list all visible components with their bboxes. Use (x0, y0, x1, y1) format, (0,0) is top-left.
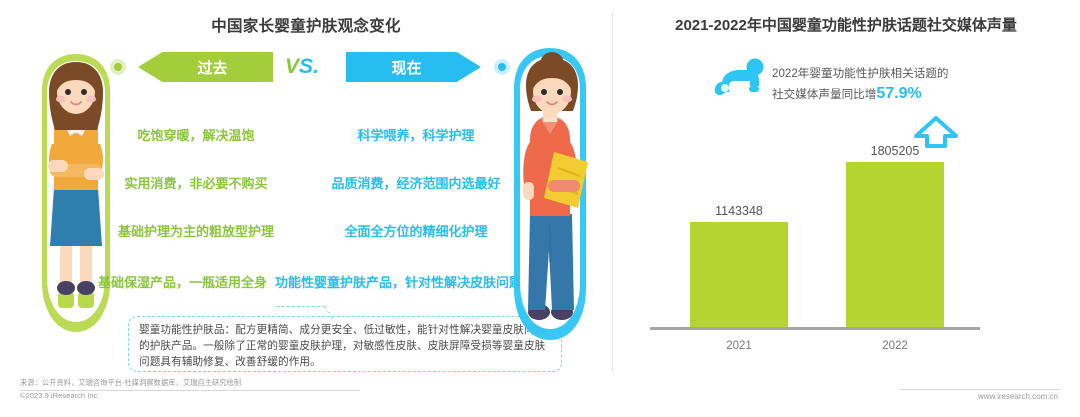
baby-crawling-icon (712, 58, 770, 100)
bar-2021 (690, 222, 788, 327)
annotation-prefix: 社交媒体声量同比增 (772, 88, 876, 101)
comparison-row: 吃饱穿暖，解决温饱 科学喂养，科学护理 (86, 110, 526, 158)
left-panel: 中国家长婴童护肤观念变化 (0, 0, 612, 417)
banner-now: 现在 (346, 52, 481, 82)
comparison-row-wide: 基础保湿产品，一瓶适用全身 功能性婴童护肤产品，针对性解决皮肤问题 (80, 272, 540, 291)
comparison-now-text: 品质消费，经济范围内选最好 (306, 173, 526, 192)
comparison-past-text: 基础护理为主的粗放型护理 (86, 221, 306, 240)
bullet-dot-past-icon (110, 59, 126, 75)
comparison-row: 基础护理为主的粗放型护理 全面全方位的精细化护理 (86, 206, 526, 254)
website-link[interactable]: www.iresearch.com.cn (978, 392, 1058, 401)
infographic-page: 中国家长婴童护肤观念变化 (0, 0, 1080, 417)
comparison-banner: 过去 VS. 现在 (110, 52, 510, 82)
vs-v: V (285, 55, 299, 79)
comparison-past-text-wide: 基础保湿产品，一瓶适用全身 (98, 272, 267, 291)
comparison-list: 吃饱穿暖，解决温饱 科学喂养，科学护理 实用消费，非必要不购买 品质消费，经济范… (86, 110, 526, 254)
comparison-now-text: 科学喂养，科学护理 (306, 125, 526, 144)
right-panel-title: 2021-2022年中国婴童功能性护肤话题社交媒体声量 (612, 14, 1080, 35)
comparison-past-text: 吃饱穿暖，解决温饱 (86, 125, 306, 144)
left-panel-title: 中国家长婴童护肤观念变化 (0, 14, 612, 36)
banner-past: 过去 (138, 52, 273, 82)
annotation-line-2: 社交媒体声量同比增57.9% (772, 84, 1072, 105)
source-note: 来源：公开资料，艾瑞咨询平台-社媒洞察数据库，艾瑞自主研究绘制 (20, 378, 360, 391)
vs-s: S. (299, 55, 319, 79)
footer-rule (900, 389, 1060, 390)
x-axis (650, 327, 980, 330)
bar-value-2022: 1805205 (835, 144, 955, 158)
comparison-row: 实用消费，非必要不购买 品质消费，经济范围内选最好 (86, 158, 526, 206)
x-label-2022: 2022 (835, 340, 955, 352)
comparison-now-text: 全面全方位的精细化护理 (306, 221, 526, 240)
copyright-note: ©2023.9 iResearch Inc. (20, 391, 99, 400)
right-panel: 2021-2022年中国婴童功能性护肤话题社交媒体声量 2022年婴童功能性护肤… (612, 0, 1080, 417)
comparison-now-text-wide: 功能性婴童护肤产品，针对性解决皮肤问题 (275, 272, 522, 291)
annotation-line-1: 2022年婴童功能性护肤相关话题的 (772, 64, 1072, 84)
growth-annotation: 2022年婴童功能性护肤相关话题的 社交媒体声量同比增57.9% (772, 64, 1072, 105)
x-label-2021: 2021 (679, 340, 799, 352)
bar-2022 (846, 162, 944, 327)
bar-chart: 1143348 2021 1805205 2022 (642, 120, 1062, 330)
illustration-parent-now (494, 44, 604, 344)
growth-percent: 57.9% (876, 85, 921, 102)
bar-value-2021: 1143348 (679, 204, 799, 218)
vs-label: VS. (285, 52, 319, 82)
comparison-past-text: 实用消费，非必要不购买 (86, 173, 306, 192)
callout-text: 婴童功能性护肤品：配方更精简、成分更安全、低过敏性，能针对性解决婴童皮肤问题的护… (139, 322, 551, 370)
